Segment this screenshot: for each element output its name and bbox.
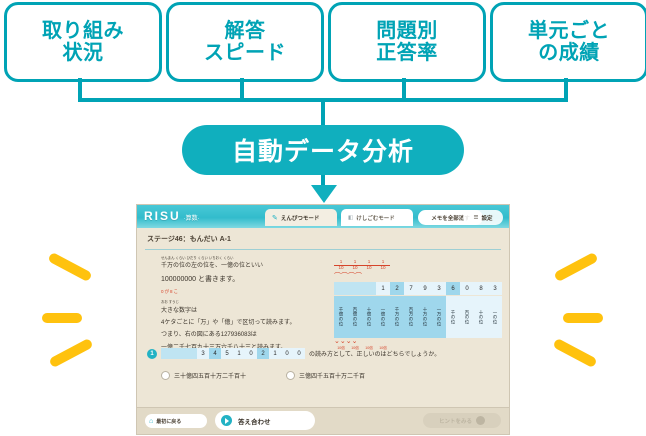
radio-icon[interactable] — [286, 371, 295, 380]
feature-card-unit-score-line2: の成績 — [528, 42, 610, 64]
fraction-cell: 110 — [362, 260, 376, 273]
question-row: 1 3 4 5 1 0 2 1 0 0 の読み方として、正しいのはどちらでしょう… — [147, 348, 499, 359]
check-answer-button[interactable]: 答え合わせ — [215, 411, 315, 430]
answer-option-1-label: 三十億四五百十万二千百十 — [174, 371, 246, 380]
place-label: 百万の位 — [404, 296, 418, 338]
place-value-digit-row: 1 2 7 9 3 6 0 8 3 — [334, 282, 502, 295]
answer-option-1[interactable]: 三十億四五百十万二千百十 — [161, 371, 246, 380]
digit-cell: 7 — [404, 282, 418, 295]
feature-card-progress: 取り組み 状況 — [4, 2, 162, 82]
risu-logo-text: RISU — [144, 209, 181, 223]
risu-logo: RISU·算数· — [144, 209, 200, 223]
risu-logo-subject: ·算数· — [184, 216, 200, 222]
feature-card-speed-line1: 解答 — [204, 20, 286, 42]
settings-label: 設定 — [481, 214, 492, 222]
place-label: 十の位 — [474, 296, 488, 338]
home-icon: ⌂ — [149, 418, 153, 425]
feature-card-unit-score-line1: 単元ごと — [528, 20, 610, 42]
answer-options: 三十億四五百十万二千百十 三億四千五百十万二千百 — [161, 371, 499, 380]
auto-data-analysis-pill: 自動データ分析 — [182, 125, 464, 175]
hamburger-icon: ☰ — [474, 215, 479, 221]
digit-cell: 3 — [488, 282, 502, 295]
lesson-line-4: 4ケタごとに「万」や「億」で区切って読みます。 — [161, 317, 329, 329]
answer-option-2[interactable]: 三億四千五百十万二千百 — [286, 371, 365, 380]
fraction-cell: 110 — [348, 260, 362, 273]
back-to-start-button[interactable]: ⌂ 最初に戻る — [145, 414, 207, 428]
feature-card-accuracy: 問題別 正答率 — [328, 2, 486, 82]
connector-drop-3 — [402, 78, 406, 100]
question-digit: 0 — [293, 348, 305, 359]
place-label: 千万の位 — [390, 296, 404, 338]
place-label: 千の位 — [446, 296, 460, 338]
place-label: 百億の位 — [348, 296, 362, 338]
question-digit: 4 — [209, 348, 221, 359]
place-label: 一億の位 — [376, 296, 390, 338]
feature-card-accuracy-line2: 正答率 — [376, 42, 438, 64]
spark-right-mid — [563, 313, 603, 323]
down-arrow-icon — [311, 185, 337, 203]
app-bottom-bar: ⌂ 最初に戻る 答え合わせ ヒントをみる — [137, 407, 509, 434]
place-label: 百の位 — [460, 296, 474, 338]
connector-drop-4 — [564, 78, 568, 100]
spark-left-bottom — [48, 338, 93, 368]
place-label: 千億の位 — [334, 296, 348, 338]
fraction-arcs: ⌒⌒⌒⌒ — [334, 273, 502, 281]
question-digit — [161, 348, 173, 359]
show-hint-label: ヒントをみる — [439, 417, 472, 425]
question-digit: 0 — [245, 348, 257, 359]
divider — [145, 249, 501, 250]
lesson-line-1-ruby: せんまん くらい ひだり くらい いちおく くらい — [161, 257, 329, 260]
lesson-zero-count-mark: 0が8こ — [161, 287, 329, 296]
fraction-row: 110 110 110 110 — [334, 260, 502, 273]
digit-cell: 9 — [418, 282, 432, 295]
feature-card-progress-line1: 取り組み — [42, 20, 124, 42]
fraction-cell: 110 — [376, 260, 390, 273]
pencil-icon: ✎ — [272, 214, 278, 222]
spark-left-top — [47, 252, 92, 282]
auto-data-analysis-label: 自動データ分析 — [232, 132, 414, 168]
question-digit: 1 — [269, 348, 281, 359]
lesson-line-3: おお すうじ 大きな数字は — [161, 301, 329, 317]
feature-card-row: 取り組み 状況 解答 スピード 問題別 正答率 単元ごと の成績 — [0, 0, 646, 82]
question-digit: 1 — [233, 348, 245, 359]
risu-app-screenshot: RISU·算数· ✎ えんぴつモード ◧ けしごむモード メモを全部消す ☰ 設… — [137, 205, 509, 434]
settings-button[interactable]: ☰ 設定 — [463, 210, 503, 225]
place-value-label-row: 千億の位 百億の位 十億の位 一億の位 千万の位 百万の位 十万の位 一万の位 … — [334, 296, 502, 338]
feature-card-unit-score: 単元ごと の成績 — [490, 2, 646, 82]
tab-pencil-mode[interactable]: ✎ えんぴつモード — [265, 209, 337, 226]
fraction-cell: 110 — [334, 260, 348, 273]
multiplier-arcs: ⌄⌄⌄⌄ — [334, 338, 502, 346]
lesson-line-2: 100000000 と書きます。 — [161, 273, 329, 287]
digit-cell — [348, 282, 362, 295]
lesson-line-1-text: 千万の位の左の位を、一億の位といい — [161, 263, 263, 269]
digit-cell — [334, 282, 348, 295]
place-label: 十万の位 — [418, 296, 432, 338]
question-digit — [173, 348, 185, 359]
question-digit: 5 — [221, 348, 233, 359]
digit-cell: 1 — [376, 282, 390, 295]
radio-icon[interactable] — [161, 371, 170, 380]
spark-left-mid — [42, 313, 82, 323]
lesson-line-1: せんまん くらい ひだり くらい いちおく くらい 千万の位の左の位を、一億の位… — [161, 257, 329, 273]
spark-right-bottom — [552, 338, 597, 368]
question-digit: 2 — [257, 348, 269, 359]
lesson-line-5: つまり、右の図にある127936083は — [161, 329, 329, 341]
show-hint-button[interactable]: ヒントをみる — [423, 413, 501, 428]
infographic-canvas: 取り組み 状況 解答 スピード 問題別 正答率 単元ごと の成績 — [0, 0, 646, 436]
place-value-table: 110 110 110 110 ⌒⌒⌒⌒ 1 2 7 9 3 6 0 8 3 — [334, 260, 502, 351]
feature-card-speed-line2: スピード — [204, 42, 286, 64]
digit-cell: 3 — [432, 282, 446, 295]
tab-pencil-mode-label: えんぴつモード — [281, 214, 320, 222]
digit-cell: 8 — [474, 282, 488, 295]
place-label: 一万の位 — [432, 296, 446, 338]
lesson-line-3-ruby: おお すうじ — [161, 301, 329, 304]
stage-title: ステージ46：もんだい A-1 — [147, 234, 231, 244]
hint-bulb-icon — [476, 416, 485, 425]
check-answer-label: 答え合わせ — [238, 416, 271, 426]
question-digit: 3 — [197, 348, 209, 359]
question-text: の読み方として、正しいのはどちらでしょうか。 — [309, 349, 440, 358]
connector-drop-2 — [240, 78, 244, 100]
question-number-badge: 1 — [147, 349, 157, 359]
tab-eraser-mode-label: けしごむモード — [356, 214, 395, 222]
back-to-start-label: 最初に戻る — [156, 418, 181, 425]
digit-cell — [362, 282, 376, 295]
feature-card-speed: 解答 スピード — [166, 2, 324, 82]
play-icon — [221, 415, 232, 426]
connector-drop-1 — [78, 78, 82, 100]
place-label: 十億の位 — [362, 296, 376, 338]
lesson-line-3-text: 大きな数字は — [161, 308, 197, 314]
eraser-icon: ◧ — [348, 215, 353, 221]
question-digit: 0 — [281, 348, 293, 359]
question-block: 1 3 4 5 1 0 2 1 0 0 の読み方として、正しいのはどちらでしょう… — [147, 348, 499, 380]
lesson-text: せんまん くらい ひだり くらい いちおく くらい 千万の位の左の位を、一億の位… — [161, 257, 329, 354]
spark-right-top — [553, 252, 598, 282]
digit-cell: 6 — [446, 282, 460, 295]
feature-card-accuracy-line1: 問題別 — [376, 20, 438, 42]
tab-eraser-mode[interactable]: ◧ けしごむモード — [341, 209, 413, 226]
question-digit-row: 3 4 5 1 0 2 1 0 0 — [161, 348, 305, 359]
question-digit — [185, 348, 197, 359]
place-label: 一の位 — [488, 296, 502, 338]
digit-cell: 0 — [460, 282, 474, 295]
feature-card-progress-line2: 状況 — [42, 42, 124, 64]
connector-center-stem — [321, 98, 325, 128]
digit-cell: 2 — [390, 282, 404, 295]
answer-option-2-label: 三億四千五百十万二千百 — [299, 371, 365, 380]
